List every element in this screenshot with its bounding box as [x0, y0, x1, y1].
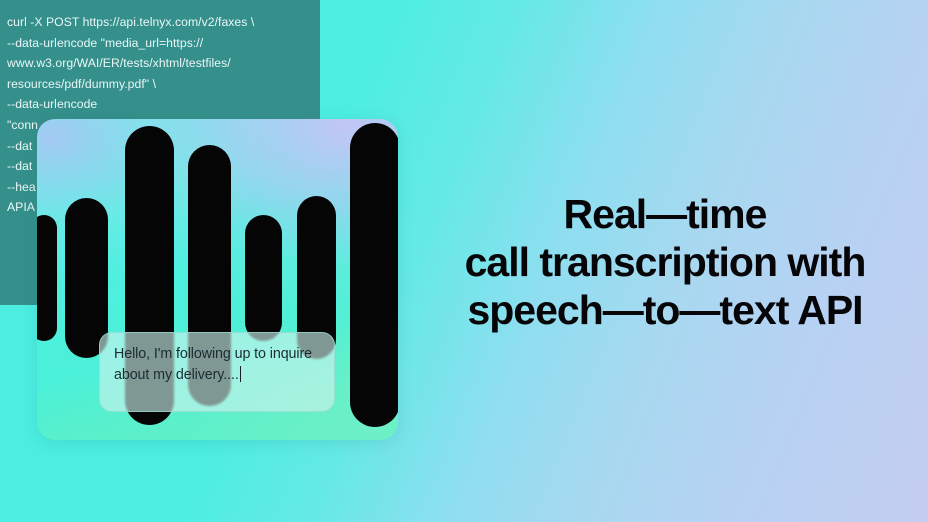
- transcript-bubble: Hello, I'm following up to inquire about…: [99, 332, 335, 412]
- waveform-bar: [37, 215, 57, 341]
- headline-line: call transcription with: [430, 238, 900, 286]
- code-line: www.w3.org/WAI/ER/tests/xhtml/testfiles/: [7, 53, 294, 74]
- headline-line: speech—to—text API: [430, 286, 900, 334]
- waveform-bar: [65, 198, 108, 358]
- code-line: --data-urlencode "media_url=https://: [7, 33, 294, 54]
- headline-line: Real—time: [430, 190, 900, 238]
- code-line: --data-urlencode: [7, 94, 294, 115]
- text-caret: [240, 366, 242, 382]
- promo-graphic-canvas: curl -X POST https://api.telnyx.com/v2/f…: [0, 0, 928, 522]
- page-title: Real—time call transcription with speech…: [430, 190, 900, 334]
- waveform-card: Hello, I'm following up to inquire about…: [37, 119, 398, 440]
- code-line: curl -X POST https://api.telnyx.com/v2/f…: [7, 12, 294, 33]
- transcript-text: Hello, I'm following up to inquire about…: [114, 344, 321, 385]
- code-line: resources/pdf/dummy.pdf" \: [7, 74, 294, 95]
- waveform-bar: [350, 123, 398, 427]
- waveform-bar: [245, 215, 282, 341]
